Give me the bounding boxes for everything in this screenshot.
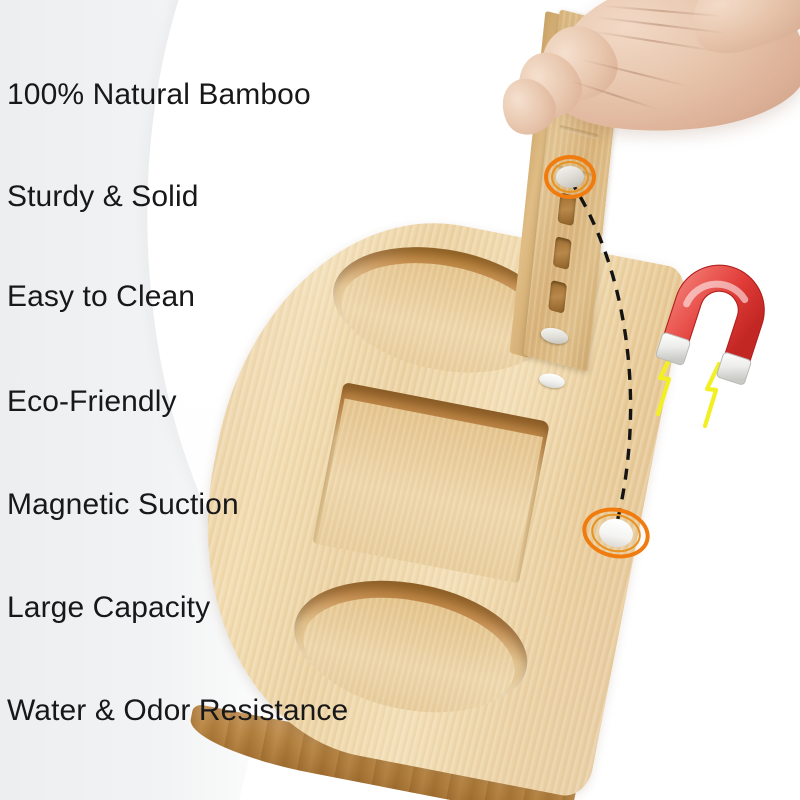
feature-item-easy-to-clean: Easy to Clean xyxy=(7,281,195,313)
feature-item-water-odor: Water & Odor Resistance xyxy=(7,695,348,727)
strip-cutout-slot xyxy=(548,280,567,314)
infographic-canvas: 100% Natural Bamboo Sturdy & Solid Easy … xyxy=(0,0,800,800)
feature-list: 100% Natural Bamboo Sturdy & Solid Easy … xyxy=(0,0,360,800)
feature-item-natural-bamboo: 100% Natural Bamboo xyxy=(7,79,311,111)
feature-item-sturdy-solid: Sturdy & Solid xyxy=(7,181,199,213)
feature-item-eco-friendly: Eco-Friendly xyxy=(7,386,177,418)
feature-item-large-capacity: Large Capacity xyxy=(7,592,210,624)
strip-cutout-slot xyxy=(553,236,572,270)
hand-holding-strip xyxy=(494,0,800,220)
feature-item-magnetic-suction: Magnetic Suction xyxy=(7,489,239,521)
magnet-disc xyxy=(556,166,584,188)
callout-ring-magnet-on-strip xyxy=(544,155,596,199)
